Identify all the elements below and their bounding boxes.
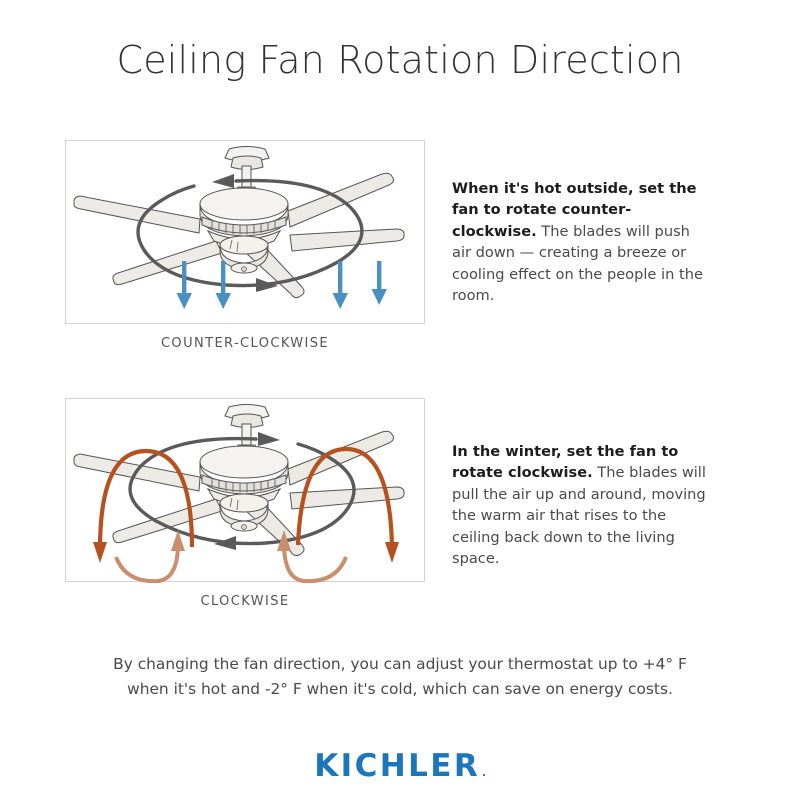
rotation-arrowhead-top	[212, 174, 234, 188]
airflow-arcs-up-inner	[116, 543, 346, 581]
panel-counter-clockwise	[65, 140, 425, 324]
panel-clockwise	[65, 398, 425, 582]
footer-line-1: By changing the fan direction, you can a…	[113, 655, 687, 673]
footer-note: By changing the fan direction, you can a…	[95, 652, 705, 702]
footer-line-2: when it's hot and -2° F when it's cold, …	[127, 680, 673, 698]
fan-illustration	[74, 147, 404, 298]
caption-counter-clockwise: COUNTER-CLOCKWISE	[65, 336, 425, 351]
fan-diagram-counter-clockwise	[66, 141, 424, 323]
rotation-arrowhead-bottom	[214, 536, 236, 550]
airflow-arrow-down-4	[372, 261, 388, 305]
airflow-arc-up-left	[116, 543, 178, 581]
description-clockwise: In the winter, set the fan to rotate clo…	[452, 441, 707, 570]
brand-trademark-icon: .	[482, 764, 486, 779]
airflow-arrowhead-down-right	[385, 542, 399, 563]
infographic-page: Ceiling Fan Rotation Direction	[0, 0, 800, 800]
rotation-arrowhead-top	[258, 432, 280, 446]
fan-illustration	[74, 405, 404, 556]
airflow-arrowhead-down-left	[93, 542, 107, 563]
page-title: Ceiling Fan Rotation Direction	[0, 38, 800, 82]
caption-clockwise: CLOCKWISE	[65, 594, 425, 609]
airflow-arrow-down-3	[333, 261, 349, 309]
airflow-arrow-down-1	[177, 261, 193, 309]
description-counter-clockwise: When it's hot outside, set the fan to ro…	[452, 178, 707, 307]
rotation-arrowhead-bottom	[256, 278, 278, 292]
brand-logo: KICHLER.	[0, 748, 800, 784]
fan-diagram-clockwise	[66, 399, 424, 581]
brand-name: KICHLER	[314, 748, 480, 784]
